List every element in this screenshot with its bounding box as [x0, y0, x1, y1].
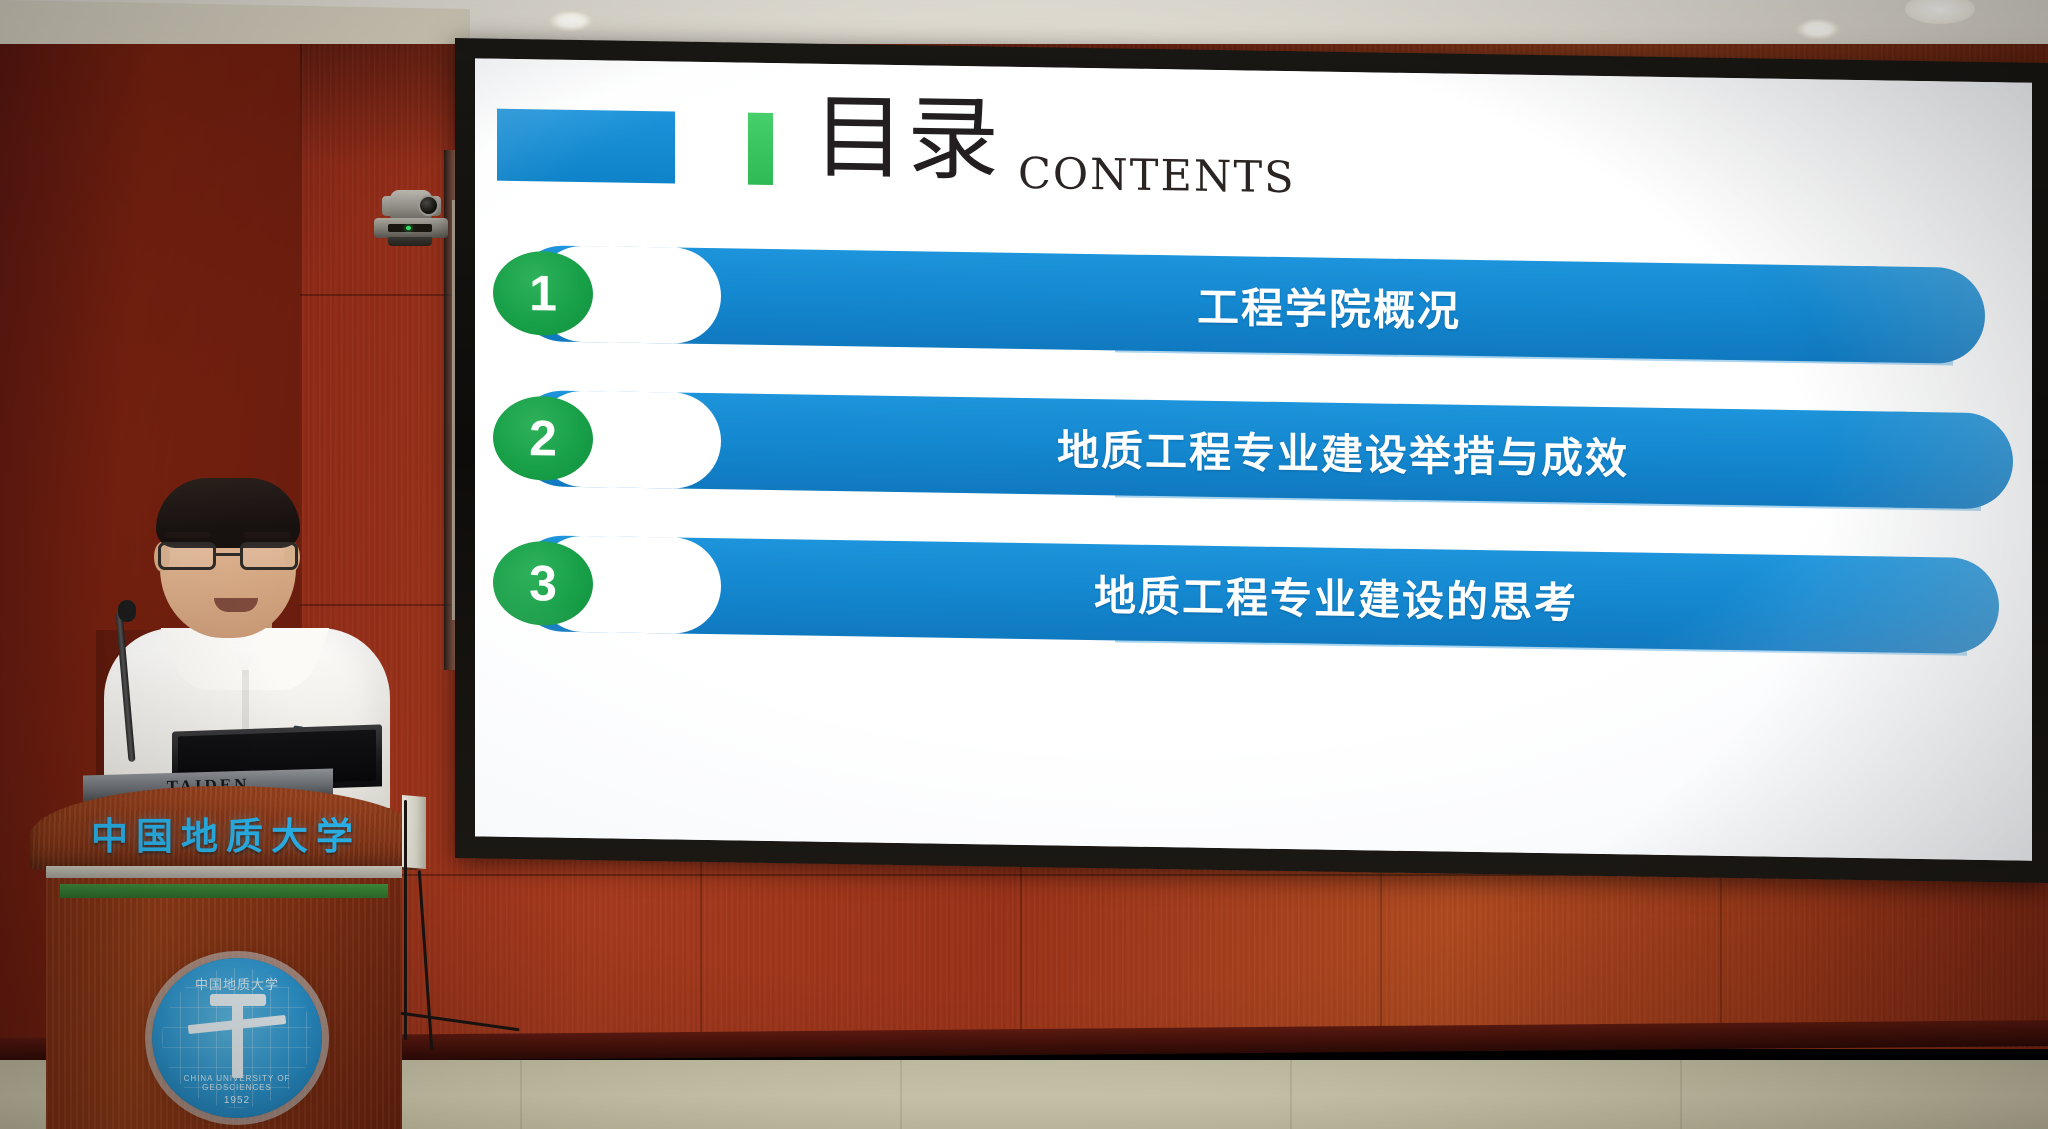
- floor-tile-seam: [520, 1060, 522, 1129]
- glasses-lens: [158, 542, 216, 570]
- floor-tile-seam: [1680, 1060, 1682, 1129]
- slide-title-en: CONTENTS: [1018, 149, 1296, 203]
- agenda-number: 1: [529, 268, 557, 318]
- presenter-eyebrow: [164, 532, 210, 538]
- podium-trim: [46, 866, 402, 878]
- projection-screen-frame: 目录 CONTENTS 1 工程学院概况: [455, 38, 2048, 883]
- glasses-bridge: [216, 553, 242, 556]
- header-blue-block: [497, 109, 675, 184]
- agenda-number: 3: [529, 558, 557, 608]
- microphone-capsule-icon: [118, 600, 136, 622]
- agenda-label: 工程学院概况: [735, 248, 1923, 363]
- presenter-eyebrow: [244, 532, 290, 538]
- emblem-hammer-handle: [232, 996, 243, 1078]
- projection-screen: 目录 CONTENTS 1 工程学院概况: [475, 58, 2032, 860]
- glasses-icon: [156, 542, 302, 572]
- agenda-list: 1 工程学院概况 2 地质工程专业建设举措与成效: [475, 244, 2032, 703]
- emblem-year: 1952: [152, 1095, 322, 1106]
- agenda-number-badge: 2: [493, 396, 593, 482]
- podium-university-name: 中国地质大学: [30, 806, 422, 860]
- podium-green-band: [60, 884, 388, 898]
- ceiling-downlight: [1795, 18, 1841, 40]
- slide-title-cn: 目录: [813, 92, 1001, 187]
- lecture-hall-scene: 目录 CONTENTS 1 工程学院概况: [0, 0, 2048, 1129]
- floor-tile-seam: [900, 1060, 902, 1129]
- emblem-name-cn: 中国地质大学: [152, 974, 322, 993]
- agenda-number-badge: 3: [493, 541, 593, 627]
- agenda-item-1[interactable]: 1 工程学院概况: [475, 244, 2032, 372]
- agenda-item-2[interactable]: 2 地质工程专业建设举措与成效: [475, 389, 2032, 517]
- agenda-number-badge: 1: [493, 251, 593, 337]
- presentation-slide: 目录 CONTENTS 1 工程学院概况: [475, 58, 2032, 860]
- camera-mount: [388, 237, 432, 246]
- agenda-item-3[interactable]: 3 地质工程专业建设的思考: [475, 534, 2032, 662]
- cable: [404, 800, 407, 1040]
- agenda-label: 地质工程专业建设的思考: [735, 538, 1937, 653]
- university-emblem-icon: 中国地质大学 CHINA UNIVERSITY OF GEOSCIENCES 1…: [152, 958, 322, 1118]
- slide-header: 目录 CONTENTS: [475, 58, 2032, 252]
- emblem-hammer-head: [210, 994, 266, 1006]
- glasses-lens: [240, 542, 298, 570]
- ptz-camera: [372, 190, 450, 252]
- emblem-name-en: CHINA UNIVERSITY OF GEOSCIENCES: [152, 1074, 322, 1092]
- camera-lens-icon: [420, 197, 437, 214]
- agenda-number: 2: [529, 413, 557, 463]
- camera-status-led-icon: [406, 226, 411, 230]
- agenda-label: 地质工程专业建设举措与成效: [735, 393, 1951, 508]
- camera-head: [390, 190, 432, 220]
- header-green-accent: [748, 113, 773, 185]
- ceiling-downlight: [548, 10, 594, 32]
- floor-tile-seam: [1290, 1060, 1292, 1129]
